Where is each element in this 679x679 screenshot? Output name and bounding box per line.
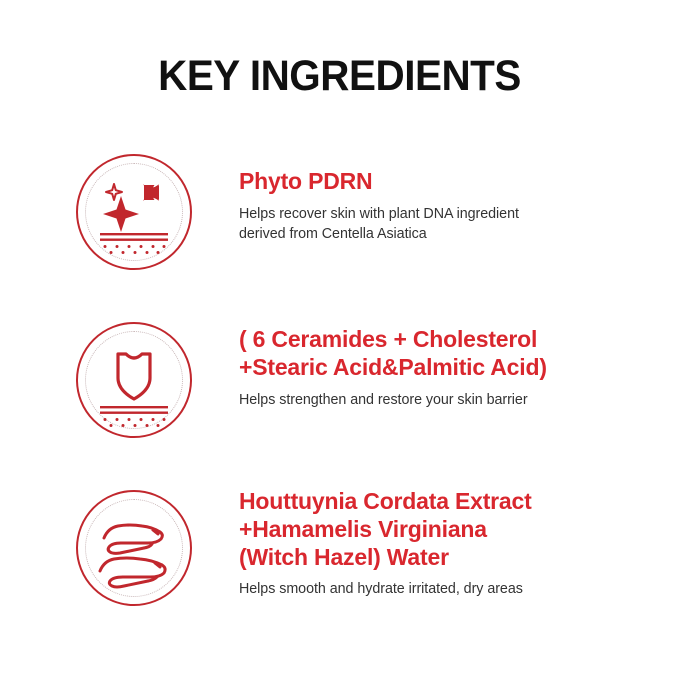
ingredient-name: Houttuynia Cordata Extract +Hamamelis Vi… xyxy=(239,488,649,571)
ingredient-name-line: Phyto PDRN xyxy=(239,168,649,196)
ingredient-name: Phyto PDRN xyxy=(239,168,649,196)
ingredient-name-line: Houttuynia Cordata Extract xyxy=(239,488,649,516)
ingredient-copy: ( 6 Ceramides + Cholesterol +Stearic Aci… xyxy=(194,318,679,410)
ingredient-icon-badge xyxy=(74,488,194,608)
ingredient-description: Helps smooth and hydrate irritated, dry … xyxy=(239,580,649,600)
ingredient-icon-badge xyxy=(74,320,194,440)
ingredient-name-line: (Witch Hazel) Water xyxy=(239,544,649,572)
ingredient-name: ( 6 Ceramides + Cholesterol +Stearic Aci… xyxy=(239,326,649,382)
shield-skin-layers-icon xyxy=(74,320,194,440)
sparkle-skin-layers-icon xyxy=(74,152,194,272)
ingredient-name-line: +Hamamelis Virginiana xyxy=(239,516,649,544)
ingredient-description-line: Helps strengthen and restore your skin b… xyxy=(239,391,649,411)
ingredient-copy: Phyto PDRN Helps recover skin with plant… xyxy=(194,150,679,244)
ingredient-description: Helps recover skin with plant DNA ingred… xyxy=(239,205,649,244)
ingredient-description-line: derived from Centella Asiatica xyxy=(239,225,649,245)
ingredient-description: Helps strengthen and restore your skin b… xyxy=(239,391,649,411)
ingredient-item: ( 6 Ceramides + Cholesterol +Stearic Aci… xyxy=(0,318,679,442)
ingredient-copy: Houttuynia Cordata Extract +Hamamelis Vi… xyxy=(194,486,679,600)
ingredient-item: Houttuynia Cordata Extract +Hamamelis Vi… xyxy=(0,486,679,610)
ingredient-name-line: +Stearic Acid&Palmitic Acid) xyxy=(239,354,649,382)
key-ingredients-infographic: KEY INGREDIENTS xyxy=(0,0,679,679)
caring-hands-icon xyxy=(74,488,194,608)
ingredient-item: Phyto PDRN Helps recover skin with plant… xyxy=(0,150,679,274)
ingredient-list: Phyto PDRN Helps recover skin with plant… xyxy=(0,150,679,654)
ingredient-name-line: ( 6 Ceramides + Cholesterol xyxy=(239,326,649,354)
page-title: KEY INGREDIENTS xyxy=(20,52,658,101)
ingredient-description-line: Helps recover skin with plant DNA ingred… xyxy=(239,205,649,225)
ingredient-description-line: Helps smooth and hydrate irritated, dry … xyxy=(239,580,649,600)
ingredient-icon-badge xyxy=(74,152,194,272)
